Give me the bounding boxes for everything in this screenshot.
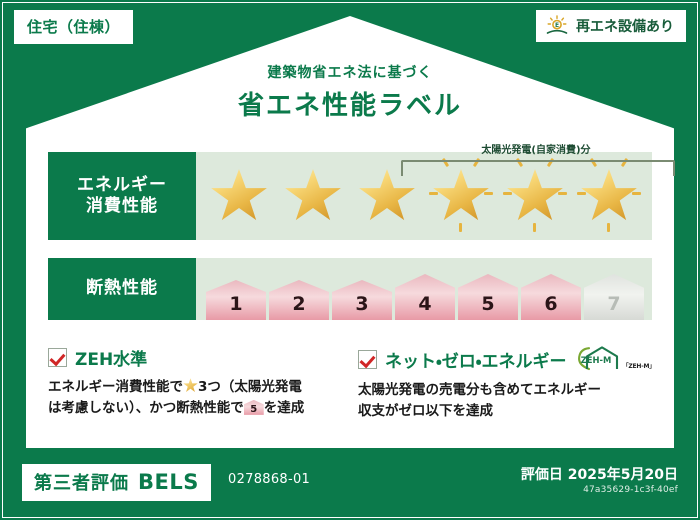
- sun-renewable-icon: E: [545, 15, 569, 37]
- insulation-performance-row: 断熱性能 1234567: [48, 258, 652, 320]
- insulation-grade-panel: 1234567: [196, 258, 652, 320]
- renewable-equipment-badge: E 再エネ設備あり: [536, 10, 686, 42]
- star-icon: [432, 168, 490, 224]
- insulation-grade-4: 4: [395, 274, 455, 320]
- zeh-body-part2: は考慮しない）、かつ断熱性能で: [48, 400, 244, 416]
- star-shine-ray: [607, 223, 610, 232]
- mini-star-icon: [183, 378, 198, 393]
- star-base: [204, 152, 274, 240]
- mini-house-icon: 5: [244, 400, 264, 415]
- evaluation-hash: 47a35629-1c3f-40ef: [583, 485, 678, 495]
- third-party-evaluation-label: 第三者評価: [34, 469, 129, 495]
- star-shine-ray: [558, 192, 567, 195]
- label-subtitle: 建築物省エネ法に基づく: [0, 62, 700, 82]
- renewable-badge-label: 再エネ設備あり: [576, 16, 674, 36]
- mini-house-value: 5: [244, 405, 264, 415]
- star-shine-ray: [503, 192, 512, 195]
- solar-bracket: [401, 160, 675, 176]
- insulation-grade-scale: 1234567: [196, 258, 644, 320]
- house-icon: 2: [269, 280, 329, 320]
- zehm-logo-text: ZEH-M: [580, 355, 611, 365]
- star-shine-ray: [484, 192, 493, 195]
- star-icon: [210, 168, 268, 224]
- net-zero-body: 太陽光発電の売電分も含めてエネルギー 収支がゼロ以下を達成: [358, 380, 640, 422]
- zehm-house-icon: ZEH-M: [575, 345, 621, 373]
- achievement-net-zero-energy: ネット・ゼロ・エネルギー ZEH-M 「ZEH-M」 太陽光発電の売電分も含めて…: [358, 345, 640, 422]
- star-base: [278, 152, 348, 240]
- house-icon: 5: [458, 274, 518, 320]
- insulation-grade-value: 2: [292, 295, 305, 320]
- insulation-grade-6: 6: [521, 274, 581, 320]
- star-shine-ray: [577, 192, 586, 195]
- zehm-logo-caption: 「ZEH-M」: [623, 361, 656, 373]
- energy-performance-stars-panel: 太陽光発電(自家消費)分: [196, 152, 652, 240]
- evaluation-date-value: 2025年5月20日: [568, 467, 678, 483]
- house-icon: 3: [332, 280, 392, 320]
- insulation-grade-value: 3: [355, 295, 368, 320]
- insulation-grade-value: 1: [229, 295, 242, 320]
- star-icon: [506, 168, 564, 224]
- insulation-grade-7: 7: [584, 274, 644, 320]
- label-title-block: 建築物省エネ法に基づく 省エネ性能ラベル: [0, 62, 700, 122]
- zeh-standard-title: ZEH水準: [75, 345, 147, 370]
- insulation-grade-1: 1: [206, 280, 266, 320]
- zeh-body-part3: を達成: [264, 400, 305, 416]
- building-type-label: 住宅（住棟）: [27, 18, 120, 36]
- house-icon: 7: [584, 274, 644, 320]
- insulation-grade-value: 7: [607, 295, 620, 320]
- insulation-grade-2: 2: [269, 280, 329, 320]
- zeh-body-part1: エネルギー消費性能で: [48, 379, 183, 395]
- zehm-logo: ZEH-M 「ZEH-M」: [575, 345, 656, 373]
- label-footer: 第三者評価 BELS 0278868-01 評価日 2025年5月20日 47a…: [0, 454, 700, 520]
- house-icon: 6: [521, 274, 581, 320]
- net-zero-body-line1: 太陽光発電の売電分も含めてエネルギー: [358, 382, 601, 398]
- insulation-grade-value: 5: [481, 295, 494, 320]
- energy-performance-label: 住宅（住棟） E 再エネ設備あり 建築物省エネ法に基づく 省エネ性能ラベル エネ…: [0, 0, 700, 520]
- star-shine-ray: [459, 223, 462, 232]
- label-main-title: 省エネ性能ラベル: [0, 85, 700, 122]
- star-shine-ray: [429, 192, 438, 195]
- star-shine-ray: [533, 223, 536, 232]
- star-icon: [284, 168, 342, 224]
- star-icon: [358, 168, 416, 224]
- check-icon: [358, 350, 377, 369]
- insulation-performance-label: 断熱性能: [48, 258, 196, 320]
- achievement-zeh-standard: ZEH水準 エネルギー消費性能で3つ（太陽光発電は考慮しない）、かつ断熱性能で5…: [48, 345, 330, 419]
- net-zero-title: ネット・ゼロ・エネルギー: [385, 347, 567, 372]
- house-icon: 1: [206, 280, 266, 320]
- zeh-standard-body: エネルギー消費性能で3つ（太陽光発電は考慮しない）、かつ断熱性能で5を達成: [48, 377, 330, 419]
- insulation-grade-3: 3: [332, 280, 392, 320]
- zeh-standard-header: ZEH水準: [48, 345, 330, 370]
- energy-performance-row: エネルギー 消費性能 太陽光発電(自家消費)分: [48, 152, 652, 240]
- net-zero-header: ネット・ゼロ・エネルギー ZEH-M 「ZEH-M」: [358, 345, 640, 373]
- insulation-label-text: 断熱性能: [86, 278, 158, 299]
- energy-performance-label: エネルギー 消費性能: [48, 152, 196, 240]
- bels-evaluation-box: 第三者評価 BELS: [22, 464, 211, 501]
- evaluation-date-label: 評価日: [521, 467, 563, 483]
- bels-scheme-name: BELS: [138, 470, 199, 494]
- svg-text:E: E: [555, 22, 559, 29]
- star-shine-ray: [632, 192, 641, 195]
- insulation-grade-value: 6: [544, 295, 557, 320]
- zeh-body-star-count: 3つ（太陽光発電: [198, 379, 302, 395]
- star-icon: [580, 168, 638, 224]
- evaluation-date: 評価日 2025年5月20日: [521, 464, 678, 484]
- insulation-grade-value: 4: [418, 295, 431, 320]
- solar-bracket-label: 太陽光発電(自家消費)分: [401, 141, 671, 156]
- energy-label-line2: 消費性能: [86, 196, 158, 216]
- energy-label-line1: エネルギー: [77, 175, 167, 195]
- net-zero-body-line2: 収支がゼロ以下を達成: [358, 403, 493, 419]
- building-type-tag: 住宅（住棟）: [14, 10, 133, 44]
- insulation-grade-5: 5: [458, 274, 518, 320]
- house-icon: 4: [395, 274, 455, 320]
- certificate-id: 0278868-01: [228, 472, 310, 487]
- check-icon: [48, 348, 67, 367]
